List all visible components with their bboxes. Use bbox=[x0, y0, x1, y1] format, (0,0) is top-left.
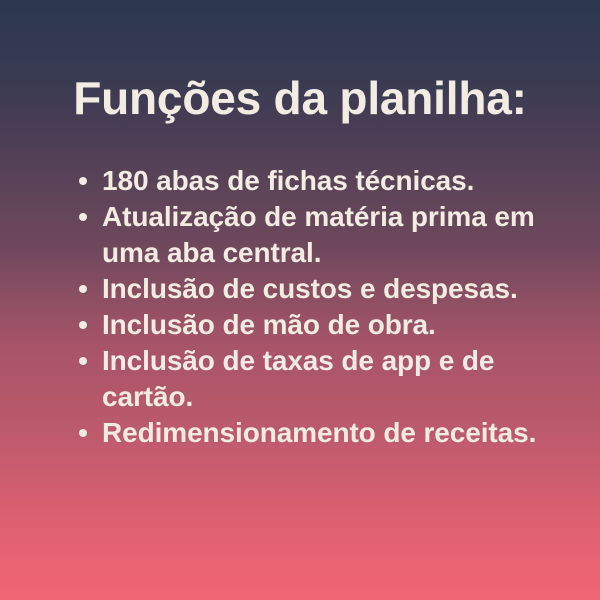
list-item: Inclusão de mão de obra. bbox=[72, 307, 572, 343]
list-item-label: 180 abas de fichas técnicas. bbox=[102, 163, 572, 199]
list-item: Inclusão de taxas de app e de cartão. bbox=[72, 343, 572, 415]
list-item: Inclusão de custos e despesas. bbox=[72, 271, 572, 307]
list-item-label: Inclusão de mão de obra. bbox=[102, 307, 572, 343]
bullet-point-icon bbox=[79, 429, 87, 437]
page-title: Funções da planilha: bbox=[0, 72, 600, 124]
list-item: 180 abas de fichas técnicas. bbox=[72, 163, 572, 199]
list-item: Redimensionamento de receitas. bbox=[72, 415, 572, 451]
list-item-label: Inclusão de custos e despesas. bbox=[102, 271, 572, 307]
feature-list: 180 abas de fichas técnicas. Atualização… bbox=[72, 163, 572, 451]
bullet-point-icon bbox=[79, 321, 87, 329]
list-item-label: Inclusão de taxas de app e de cartão. bbox=[102, 343, 572, 415]
slide-canvas: Funções da planilha: 180 abas de fichas … bbox=[0, 0, 600, 600]
list-item-label: Redimensionamento de receitas. bbox=[102, 415, 572, 451]
bullet-point-icon bbox=[79, 177, 87, 185]
list-item: Atualização de matéria prima em uma aba … bbox=[72, 199, 572, 271]
list-item-label: Atualização de matéria prima em uma aba … bbox=[102, 199, 572, 271]
bullet-point-icon bbox=[79, 357, 87, 365]
bullet-point-icon bbox=[79, 213, 87, 221]
bullet-point-icon bbox=[79, 285, 87, 293]
